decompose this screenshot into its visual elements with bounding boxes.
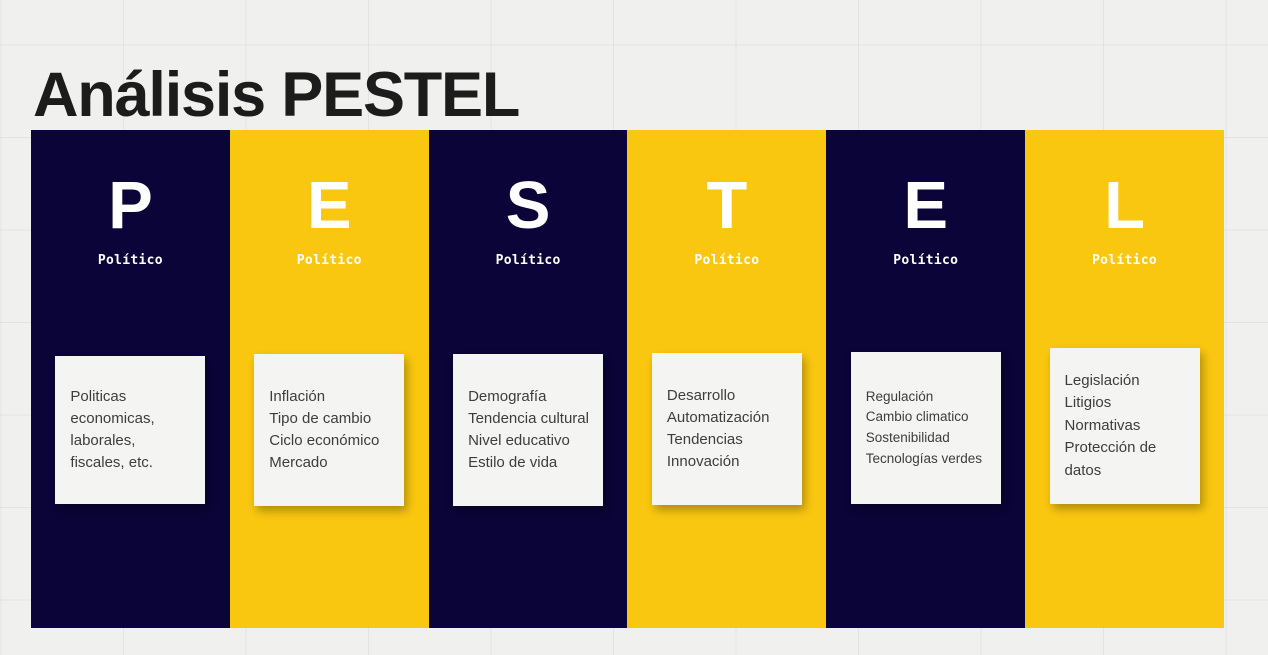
card-text: Regulación Cambio climatico Sostenibilid…	[866, 387, 987, 469]
card-text: Desarrollo Automatización Tendencias Inn…	[667, 385, 788, 474]
column-card[interactable]: Legislación Litigios Normativas Protecci…	[1050, 348, 1200, 504]
column-card[interactable]: Inflación Tipo de cambio Ciclo económico…	[254, 354, 404, 506]
column-subtitle: Político	[694, 254, 759, 267]
column-card[interactable]: Regulación Cambio climatico Sostenibilid…	[851, 352, 1001, 504]
pestel-board: P Político Politicas economicas, laboral…	[31, 130, 1224, 628]
column-letter: P	[108, 172, 153, 239]
column-card[interactable]: Desarrollo Automatización Tendencias Inn…	[652, 353, 802, 505]
page-title: Análisis PESTEL	[33, 58, 519, 132]
pestel-column-environmental[interactable]: E Político Regulación Cambio climatico S…	[826, 130, 1025, 628]
column-letter: L	[1104, 172, 1145, 239]
pestel-column-legal[interactable]: L Político Legislación Litigios Normativ…	[1025, 130, 1224, 628]
pestel-column-social[interactable]: S Político Demografía Tendencia cultural…	[429, 130, 628, 628]
pestel-column-political[interactable]: P Político Politicas economicas, laboral…	[31, 130, 230, 628]
column-subtitle: Político	[893, 254, 958, 267]
card-text: Legislación Litigios Normativas Protecci…	[1065, 370, 1186, 483]
column-letter: E	[903, 172, 948, 239]
column-card[interactable]: Politicas economicas, laborales, fiscale…	[55, 356, 205, 504]
pestel-column-economic[interactable]: E Político Inflación Tipo de cambio Cicl…	[230, 130, 429, 628]
column-letter: S	[506, 172, 551, 239]
column-card[interactable]: Demografía Tendencia cultural Nivel educ…	[453, 354, 603, 506]
column-letter: T	[706, 172, 747, 239]
column-subtitle: Político	[496, 254, 561, 267]
card-text: Politicas economicas, laborales, fiscale…	[70, 386, 191, 475]
column-subtitle: Político	[98, 254, 163, 267]
pestel-column-technological[interactable]: T Político Desarrollo Automatización Ten…	[627, 130, 826, 628]
card-text: Inflación Tipo de cambio Ciclo económico…	[269, 386, 390, 475]
column-letter: E	[307, 172, 352, 239]
card-text: Demografía Tendencia cultural Nivel educ…	[468, 386, 589, 475]
column-subtitle: Político	[1092, 254, 1157, 267]
column-subtitle: Político	[297, 254, 362, 267]
